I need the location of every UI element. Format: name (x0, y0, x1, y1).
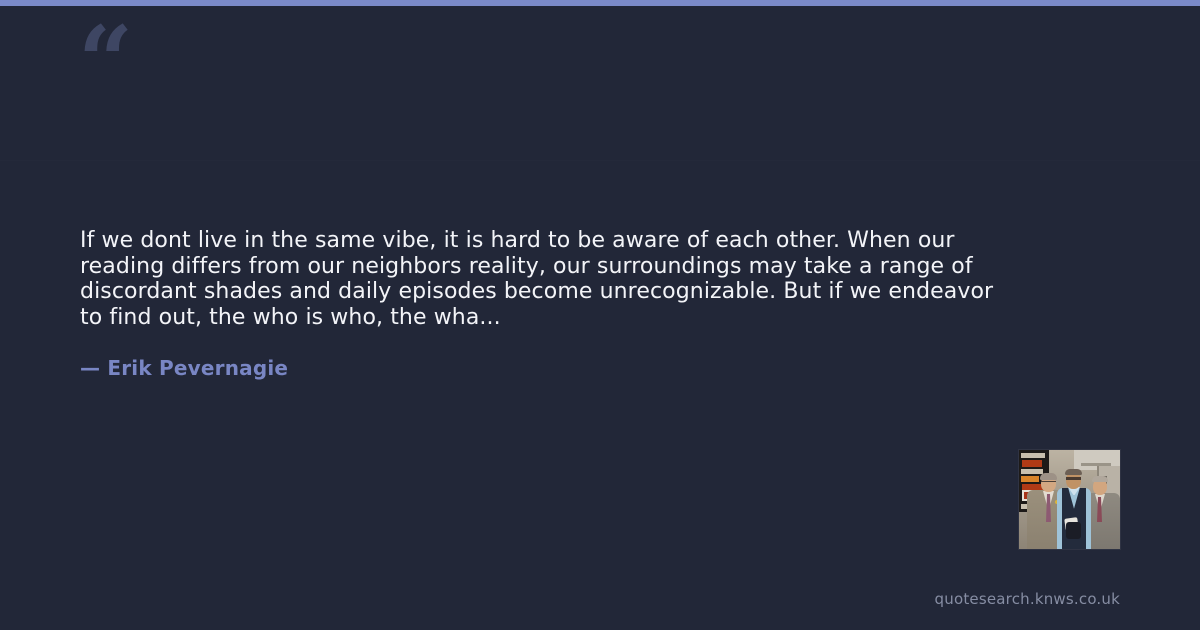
photo-person-right-hair (1092, 476, 1108, 482)
photo-person-center-hair (1065, 469, 1082, 475)
photo-person-left-hair (1040, 473, 1057, 480)
quote-author: — Erik Pevernagie (80, 356, 288, 380)
accent-top-bar (0, 0, 1200, 6)
author-photo-thumbnail (1019, 450, 1120, 549)
photo-person-center-bag (1066, 522, 1081, 539)
site-url: quotesearch.knws.co.uk (935, 590, 1120, 608)
quote-text: If we dont live in the same vibe, it is … (80, 228, 1010, 330)
photo-scene (1019, 450, 1120, 549)
background-seam (0, 160, 1200, 161)
quote-mark-icon: “ (78, 14, 131, 110)
photo-person-left-glasses (1041, 481, 1056, 486)
quote-card: “ If we dont live in the same vibe, it i… (0, 0, 1200, 630)
photo-person-center-sunglasses (1066, 477, 1081, 480)
